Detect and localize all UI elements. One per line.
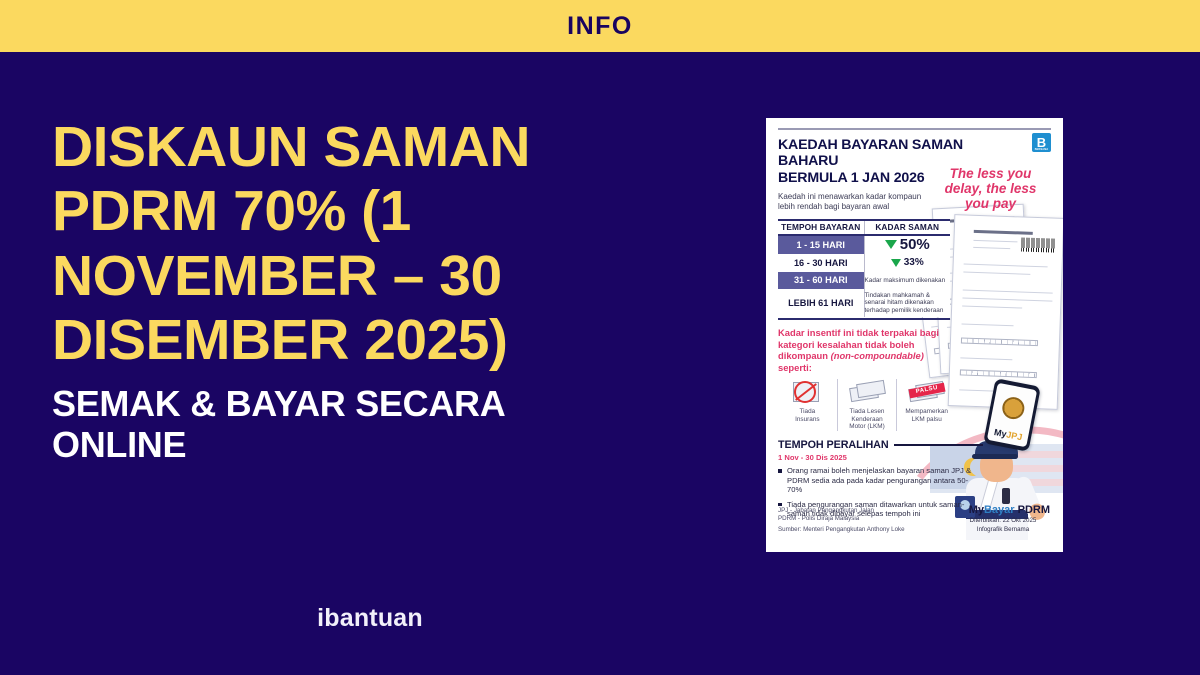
nc-item-2-cap-1: Tiada Lesen bbox=[840, 408, 895, 416]
tagline-line-3: you pay bbox=[934, 196, 1047, 211]
payment-rates-table: TEMPOH BAYARAN KADAR SAMAN 1 - 15 HARI 5… bbox=[778, 219, 950, 317]
rate-period-2: 16 - 30 HARI bbox=[778, 254, 864, 272]
rate-period-3: 31 - 60 HARI bbox=[778, 272, 864, 289]
site-watermark: ibantuan bbox=[0, 604, 740, 633]
rate-value-1: 50% bbox=[900, 236, 930, 253]
noncompoundable-text: Kadar insentif ini tidak terpakai bagi k… bbox=[778, 327, 948, 374]
page-title: DISKAUN SAMAN PDRM 70% (1 NOVEMBER – 30 … bbox=[52, 115, 692, 373]
myjpj-suffix: JPJ bbox=[1006, 429, 1024, 442]
nc-line-2: kategori kesalahan tidak boleh bbox=[778, 339, 915, 350]
page-subtitle: SEMAK & BAYAR SECARA ONLINE bbox=[52, 383, 692, 466]
list-item: Orang ramai boleh menjelaskan bayaran sa… bbox=[778, 466, 974, 495]
table-header-rate: KADAR SAMAN bbox=[864, 220, 950, 235]
table-bottom-rule bbox=[778, 318, 950, 320]
nc-item-3-cap-2: LKM palsu bbox=[899, 416, 954, 424]
subheadline-line-2: ONLINE bbox=[52, 424, 692, 465]
mybayar-suffix: PDRM bbox=[1015, 504, 1050, 516]
rate-period-4: LEBIH 61 HARI bbox=[778, 289, 864, 317]
publication-info: Diterbitkan: 22 Okt 2025 Infografik Bern… bbox=[955, 517, 1051, 534]
nc-line-1: Kadar insentif ini tidak terpakai bagi bbox=[778, 327, 939, 338]
table-row: 1 - 15 HARI 50% bbox=[778, 235, 950, 254]
rate-period-1: 1 - 15 HARI bbox=[778, 235, 864, 254]
rate-note-3: Kadar maksimum dikenakan bbox=[864, 272, 950, 289]
tagline-line-1: The less you bbox=[934, 166, 1047, 181]
headline-line-2: PDRM 70% (1 bbox=[52, 179, 692, 243]
infographic-tagline: The less you delay, the less you pay bbox=[934, 166, 1047, 211]
down-arrow-icon bbox=[885, 240, 897, 249]
info-banner-label: INFO bbox=[567, 12, 633, 41]
down-arrow-icon bbox=[891, 259, 901, 267]
no-insurance-icon bbox=[787, 379, 827, 405]
nc-item-2-cap-2: Kenderaan bbox=[840, 416, 895, 424]
nc-item-3-cap-1: Mempamerkan bbox=[899, 408, 954, 416]
list-item: Tiada pengurangan saman ditawarkan untuk… bbox=[778, 500, 974, 519]
transition-heading-rule bbox=[894, 444, 983, 446]
infographic-title-line-1: KAEDAH BAYARAN SAMAN BAHARU bbox=[778, 137, 993, 170]
table-row: 16 - 30 HARI 33% bbox=[778, 254, 950, 272]
rate-value-2-cell: 33% bbox=[864, 254, 950, 272]
headline-line-4: DISEMBER 2025) bbox=[52, 308, 692, 372]
transition-bullets: Orang ramai boleh menjelaskan bayaran sa… bbox=[778, 466, 974, 519]
table-header-row: TEMPOH BAYARAN KADAR SAMAN bbox=[778, 220, 950, 235]
transition-heading-row: TEMPOH PERALIHAN bbox=[778, 439, 983, 451]
summons-paper-front bbox=[948, 214, 1063, 410]
bernama-logo: B BERNAMA bbox=[1032, 133, 1051, 152]
rate-note-4: Tindakan mahkamah & senarai hitam dikena… bbox=[864, 289, 950, 317]
table-row: LEBIH 61 HARI Tindakan mahkamah & senara… bbox=[778, 289, 950, 317]
info-banner: INFO bbox=[0, 0, 1200, 52]
no-vehicle-licence-icon bbox=[847, 379, 887, 405]
fake-licence-icon: PALSU bbox=[907, 379, 947, 405]
infographic-subtitle: Kaedah ini menawarkan kadar kompaun lebi… bbox=[778, 192, 958, 212]
nc-item-1-cap-1: Tiada bbox=[780, 408, 835, 416]
main-stage: DISKAUN SAMAN PDRM 70% (1 NOVEMBER – 30 … bbox=[0, 52, 1200, 675]
bernama-logo-caption: BERNAMA bbox=[1032, 149, 1051, 151]
table-row: 31 - 60 HARI Kadar maksimum dikenakan bbox=[778, 272, 950, 289]
nc-line-3-pre: dikompaun bbox=[778, 350, 831, 361]
transition-heading: TEMPOH PERALIHAN bbox=[778, 439, 889, 451]
infographic-subtitle-line-2: lebih rendah bagi bayaran awal bbox=[778, 202, 958, 212]
jpj-emblem-icon bbox=[1000, 395, 1026, 421]
nc-item-1-cap-2: Insurans bbox=[780, 416, 835, 424]
headline-line-1: DISKAUN SAMAN bbox=[52, 115, 692, 179]
noncompoundable-items: Tiada Insurans Tiada Lesen Kenderaan Mot… bbox=[778, 379, 956, 431]
mybayar-pdrm-label: MyBayar PDRM bbox=[969, 504, 1050, 516]
list-item: Tiada Insurans bbox=[778, 379, 838, 431]
list-item: Tiada Lesen Kenderaan Motor (LKM) bbox=[838, 379, 898, 431]
myjpj-phone-mockup: MyJPJ bbox=[983, 378, 1041, 452]
transition-date-range: 1 Nov - 30 Dis 2025 bbox=[778, 453, 1051, 462]
rate-value-1-cell: 50% bbox=[864, 235, 950, 254]
infographic-subtitle-line-1: Kaedah ini menawarkan kadar kompaun bbox=[778, 192, 958, 202]
card-top-rule bbox=[778, 128, 1051, 130]
nc-line-3-em: (non-compoundable) bbox=[831, 350, 924, 361]
subheadline-line-1: SEMAK & BAYAR SECARA bbox=[52, 383, 692, 424]
table-header-period: TEMPOH BAYARAN bbox=[778, 220, 864, 235]
publication-credit: Infografik Bernama bbox=[955, 526, 1051, 534]
nc-item-2-cap-3: Motor (LKM) bbox=[840, 423, 895, 431]
infographic-card: MyJPJ B BERNAMA KAEDAH BAYARAN SAMAN BAH… bbox=[766, 118, 1063, 552]
list-item: PALSU Mempamerkan LKM palsu bbox=[897, 379, 956, 431]
infographic-source: Sumber: Menteri Pengangkutan Anthony Lok… bbox=[778, 526, 958, 534]
nc-line-4: seperti: bbox=[778, 362, 812, 373]
myjpj-prefix: My bbox=[993, 427, 1007, 439]
tagline-line-2: delay, the less bbox=[934, 181, 1047, 196]
rate-value-2: 33% bbox=[904, 257, 924, 268]
headline-line-3: NOVEMBER – 30 bbox=[52, 244, 692, 308]
headline-block: DISKAUN SAMAN PDRM 70% (1 NOVEMBER – 30 … bbox=[52, 115, 692, 465]
mybayar-mid: Bayar bbox=[984, 504, 1015, 516]
